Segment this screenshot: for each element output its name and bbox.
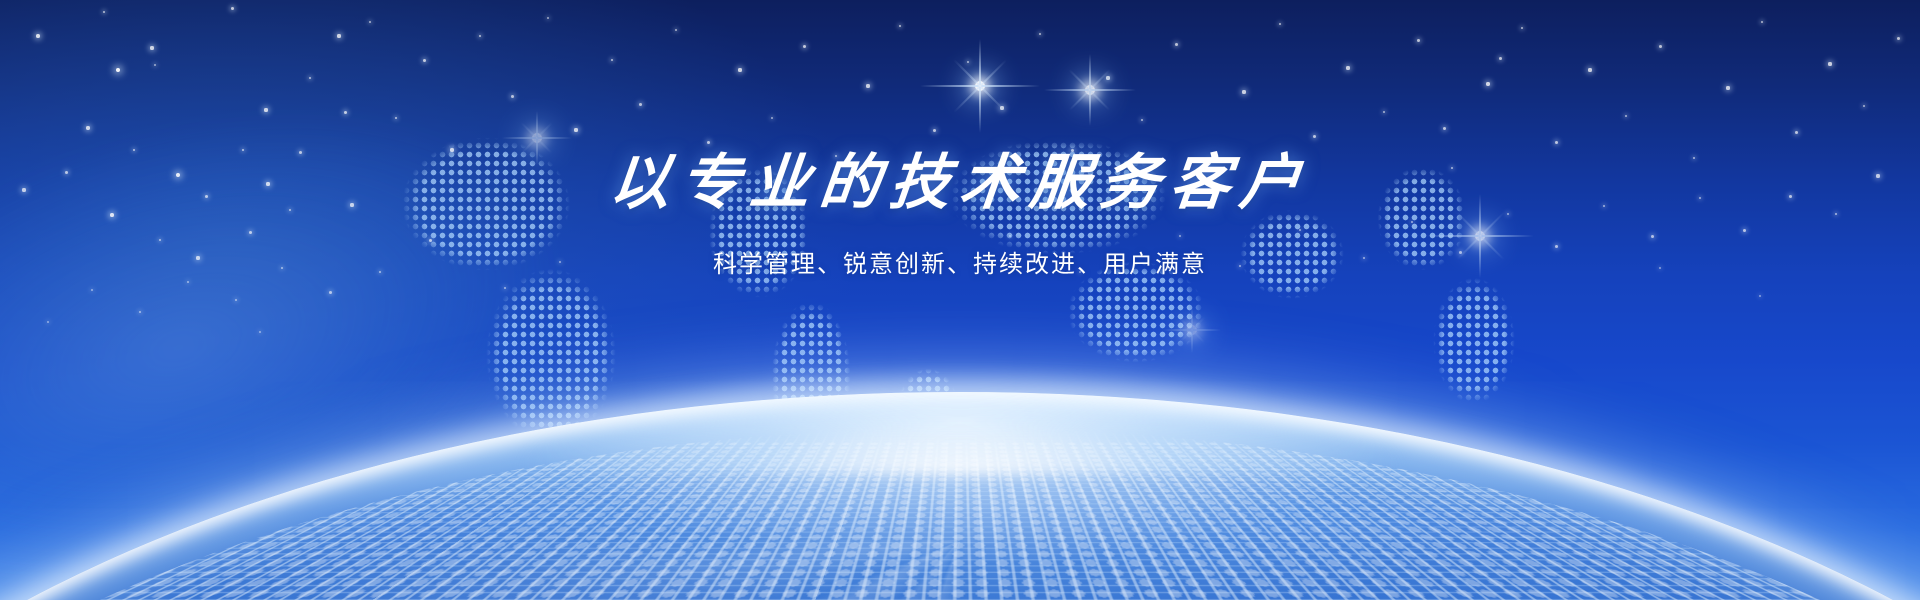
banner-text-block: 以专业的技术服务客户 科学管理、锐意创新、持续改进、用户满意 [0, 150, 1920, 279]
globe-rim-glow [0, 392, 1920, 600]
earth-horizon [0, 300, 1920, 600]
banner-headline: 以专业的技术服务客户 [0, 150, 1920, 216]
banner-subtitle: 科学管理、锐意创新、持续改进、用户满意 [0, 244, 1920, 279]
hero-banner: 以专业的技术服务客户 科学管理、锐意创新、持续改进、用户满意 [0, 0, 1920, 600]
